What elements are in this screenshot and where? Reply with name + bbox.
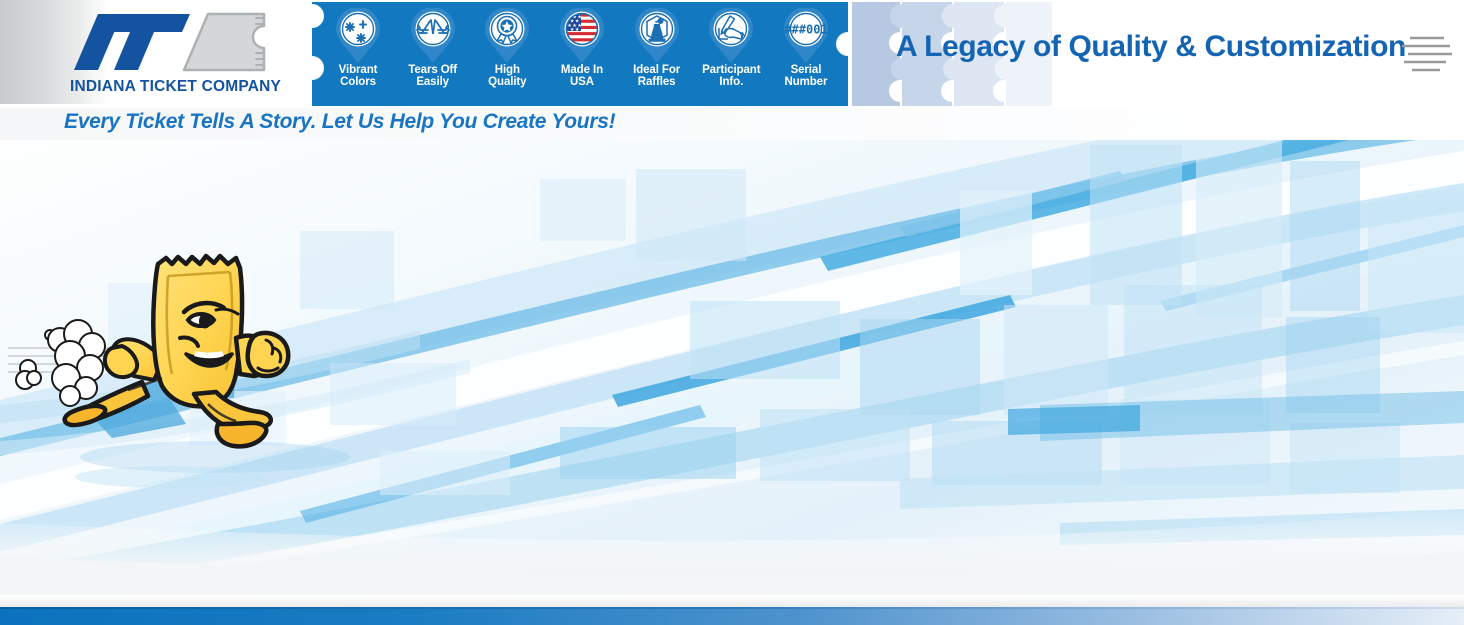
company-logo[interactable]: INDIANA TICKET COMPANY [68,6,276,102]
badge-label-line1: Serial [791,64,822,76]
badge-label-line2: Easily [416,76,449,88]
badge-label-line1: Ideal For [633,64,680,76]
badge-label-line1: Vibrant [339,64,378,76]
badge-label-line1: Participant [702,64,760,76]
usa-flag-icon: ★★★ ★★ ★★★ ★★ [557,8,607,64]
badge-made-in-usa[interactable]: ★★★ ★★ ★★★ ★★ Made In USA [548,8,616,88]
svg-text:★: ★ [575,27,580,33]
badge-label-line2: Quality [488,76,526,88]
itc-logo-icon [68,6,276,78]
badge-label-line2: Number [785,76,828,88]
hero-banner-page: INDIANA TICKET COMPANY [0,0,1464,625]
badge-label-line2: Colors [340,76,376,88]
features-banner: Vibrant Colors [302,2,858,106]
badge-serial-number[interactable]: ###001 Serial Number [772,8,840,88]
features-badge-list: Vibrant Colors [302,2,858,106]
badge-high-quality[interactable]: High Quality [473,8,541,88]
running-ticket-mascot [8,228,308,468]
serial-sample-text: ###001 [784,23,827,37]
speed-lines-icon [1400,32,1452,76]
hand-writing-icon [706,8,756,64]
footer-bar [0,609,1464,625]
serial-number-icon: ###001 [781,8,831,64]
badge-vibrant-colors[interactable]: Vibrant Colors [324,8,392,88]
quality-seal-icon [482,8,532,64]
page-title: A Legacy of Quality & Customization [896,30,1406,64]
badge-label-line1: High [495,64,520,76]
badge-label-line1: Made In [561,64,603,76]
sparkle-icon [333,8,383,64]
badge-label-line2: USA [570,76,594,88]
badge-ideal-for-raffles[interactable]: Ideal For Raffles [623,8,691,88]
badge-tears-off-easily[interactable]: Tears Off Easily [399,8,467,88]
badge-label-line1: Tears Off [408,64,457,76]
company-tagline: Every Ticket Tells A Story. Let Us Help … [64,110,615,134]
badge-label-line2: Raffles [638,76,676,88]
badge-label-line2: Info. [719,76,743,88]
header-bar: INDIANA TICKET COMPANY [0,0,1464,108]
badge-participant-info[interactable]: Participant Info. [697,8,765,88]
logo-wordmark: INDIANA TICKET COMPANY [70,78,274,96]
footer-bar-highlight [0,607,1464,609]
raffle-drum-icon [632,8,682,64]
tear-ticket-icon [408,8,458,64]
